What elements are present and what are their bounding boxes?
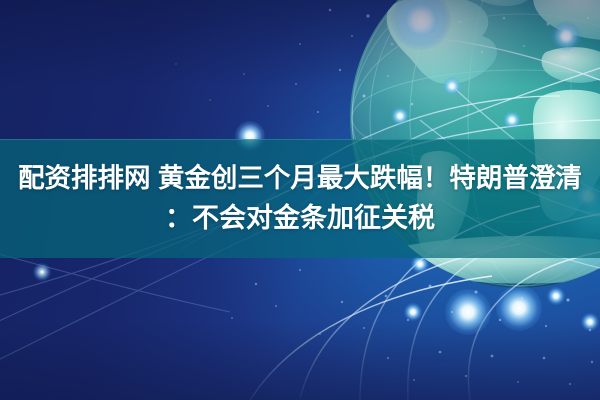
news-banner-image: 配资排排网 黄金创三个月最大跌幅！特朗普澄清 ：不会对金条加征关税 — [0, 0, 600, 400]
headline-line-2: ：不会对金条加征关税 — [165, 199, 435, 237]
headline-block: 配资排排网 黄金创三个月最大跌幅！特朗普澄清 ：不会对金条加征关税 — [0, 139, 600, 258]
headline-line-1: 配资排排网 黄金创三个月最大跌幅！特朗普澄清 — [18, 160, 582, 198]
